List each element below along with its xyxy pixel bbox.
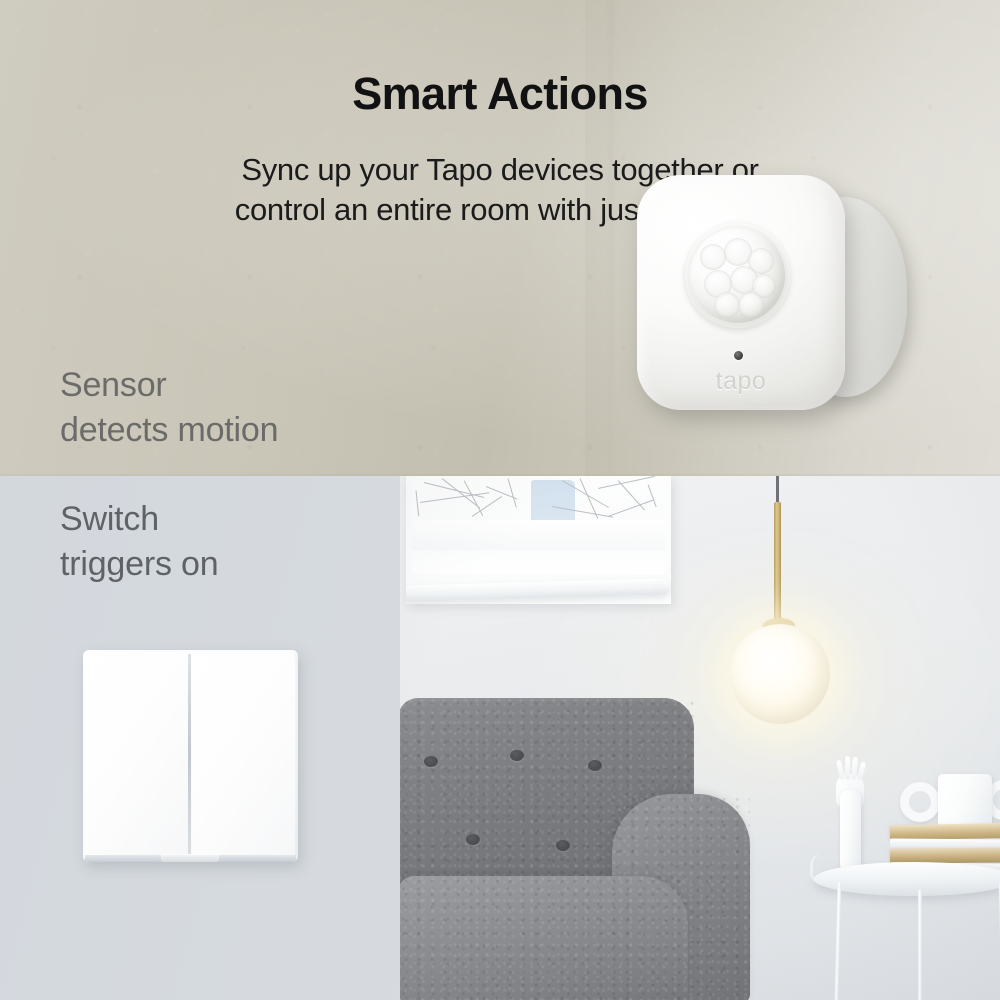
sensor-body: tapo: [637, 175, 845, 410]
switch-divider: [188, 654, 191, 855]
table-leg: [918, 890, 922, 1000]
lamp-brass-stem: [774, 502, 781, 627]
artwork-mat: [412, 520, 665, 550]
lamp-cord: [776, 476, 779, 504]
switch-faceplate: [83, 650, 298, 862]
tuft-button: [588, 760, 602, 771]
tapo-motion-sensor: tapo: [637, 175, 907, 420]
status-led-icon: [734, 351, 743, 360]
tuft-button: [556, 840, 570, 851]
armchair-seat-cushion: [400, 876, 688, 1000]
marketing-banner: Smart Actions Sync up your Tapo devices …: [0, 0, 1000, 1000]
artwork-canvas: [412, 476, 665, 574]
switch-rocker-right[interactable]: [192, 653, 295, 856]
framed-artwork: [406, 476, 671, 604]
caption-sensor-detects-motion: Sensor detects motion: [60, 363, 278, 453]
side-table-top: [814, 862, 1000, 896]
pir-lens-dome-icon: [690, 228, 785, 323]
mug-handle-ring-left: [900, 782, 940, 822]
switch-rocker-left[interactable]: [86, 653, 189, 856]
artwork-ledge: [406, 578, 670, 601]
ceramic-hand-sculpture: [832, 756, 868, 874]
switch-release-tab: [161, 854, 219, 862]
tapo-wall-switch: [83, 650, 298, 862]
hand-forearm: [840, 790, 861, 874]
gray-armchair: [400, 698, 750, 1000]
caption-switch-triggers-on: Switch triggers on: [60, 497, 218, 587]
tuft-button: [510, 750, 524, 761]
living-room-photo: [400, 476, 1000, 1000]
fabric-texture: [400, 876, 688, 1000]
tapo-brand-logo: tapo: [637, 367, 845, 396]
tuft-button: [424, 756, 438, 767]
page-title: Smart Actions: [0, 68, 1000, 120]
sensor-lens-ring: [685, 223, 790, 328]
tuft-button: [466, 834, 480, 845]
